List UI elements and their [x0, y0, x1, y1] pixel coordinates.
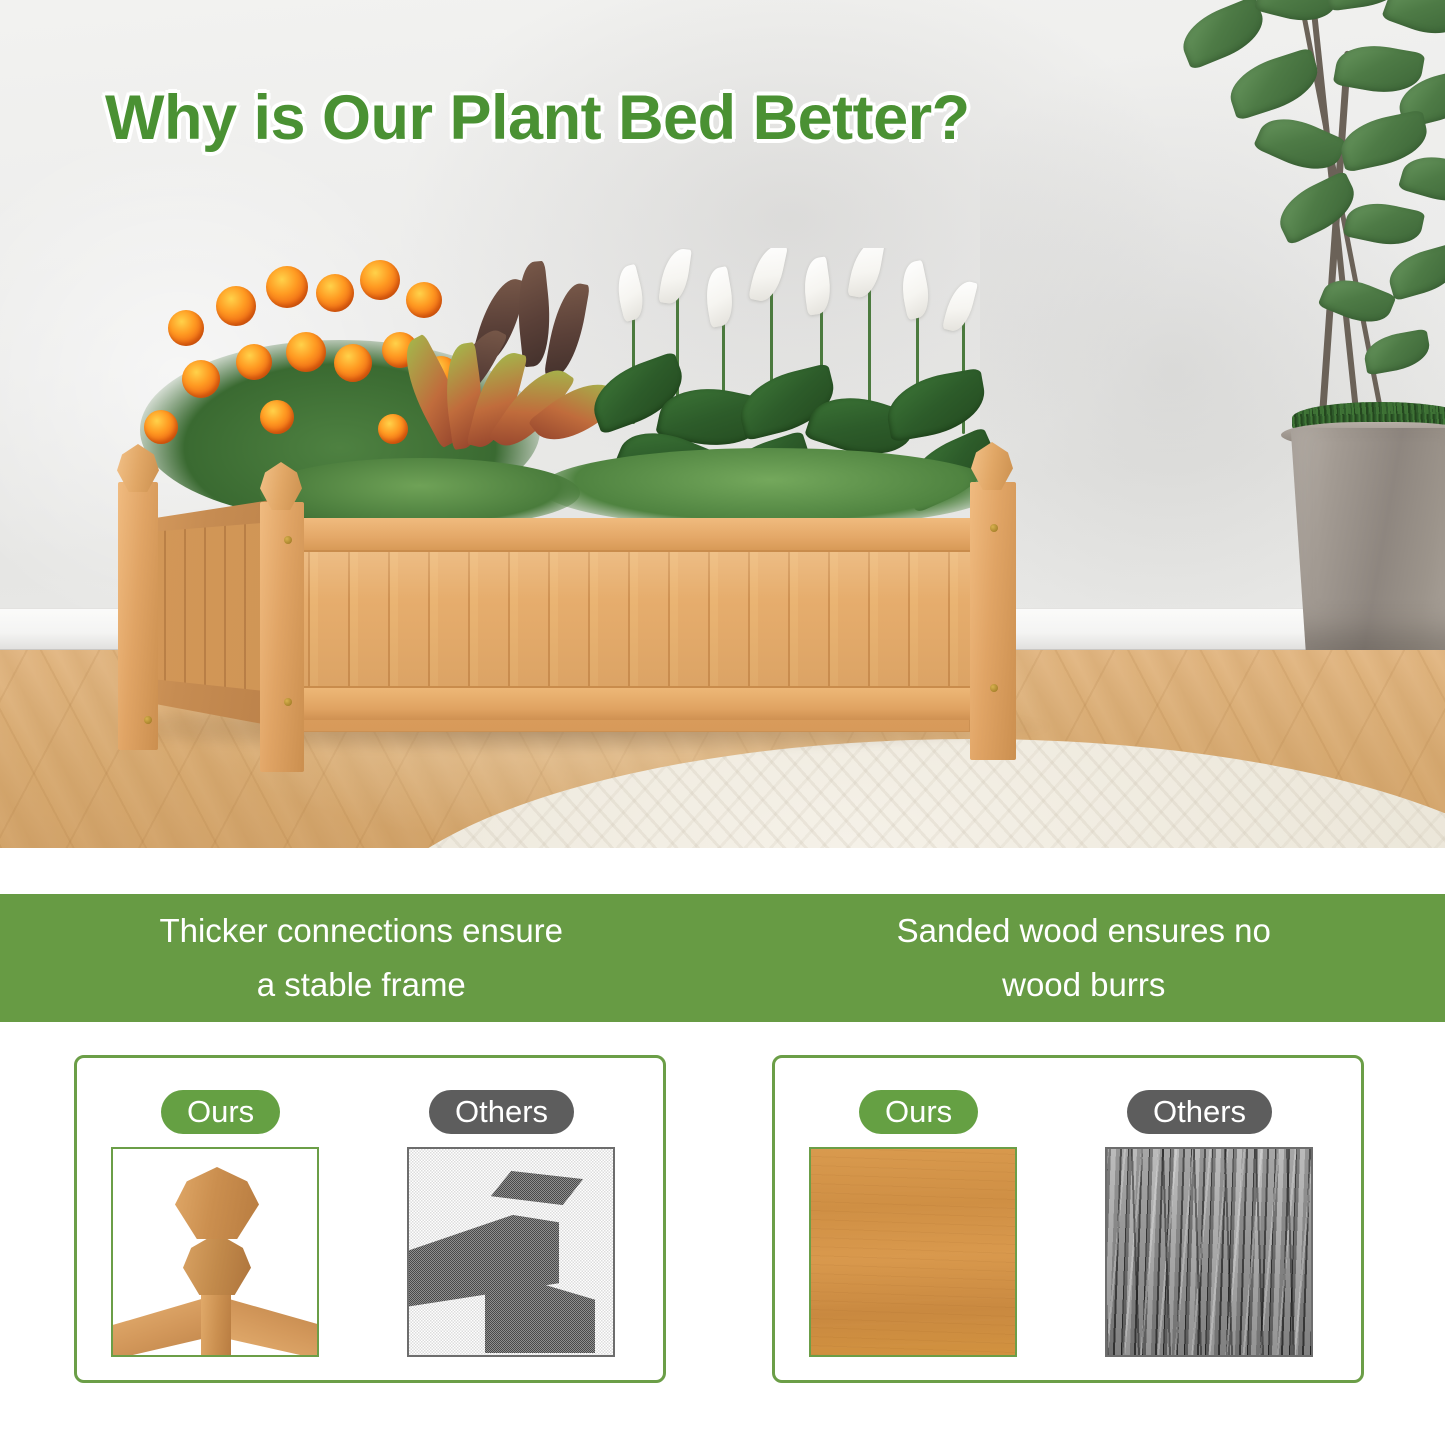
orange-rose	[216, 286, 256, 326]
plant-leaf	[1223, 47, 1325, 121]
ours-badge: Ours	[859, 1090, 978, 1134]
orange-rose	[360, 260, 400, 300]
smooth-wood-texture	[811, 1149, 1015, 1355]
concrete-pot	[1285, 428, 1445, 650]
others-badge: Others	[429, 1090, 574, 1134]
bronze-leaf	[544, 280, 590, 380]
plant-leaf	[1361, 329, 1432, 376]
banner-left-line2: a stable frame	[159, 958, 563, 1012]
white-lily	[896, 260, 933, 320]
planter-front-slats	[278, 550, 970, 692]
white-lily	[942, 278, 978, 334]
planter-corner-post	[118, 482, 158, 750]
comparison-card-thicker-connections: Ours Others	[74, 1055, 666, 1383]
planter-bottom-rail	[278, 686, 970, 720]
plant-leaf	[1343, 197, 1426, 252]
orange-rose	[168, 310, 204, 346]
others-image-rough-bark	[1105, 1147, 1313, 1357]
ours-image-sanded-wood	[809, 1147, 1017, 1357]
plant-leaf	[1398, 148, 1445, 210]
white-lily	[748, 248, 787, 304]
joint-upper-finial	[175, 1167, 259, 1239]
orange-rose	[236, 344, 272, 380]
banner-right-line1: Sanded wood ensures no	[897, 904, 1271, 958]
joint-arm-left	[111, 1295, 215, 1357]
others-image-thin-joint	[407, 1147, 615, 1357]
plant-leaf	[1384, 243, 1445, 301]
orange-rose	[286, 332, 326, 372]
rough-bark-texture	[1107, 1149, 1311, 1355]
brass-screw	[990, 524, 998, 532]
planter-side-slats	[146, 522, 274, 692]
white-lily	[701, 266, 737, 328]
ours-image-wood-joint	[111, 1147, 319, 1357]
others-badge: Others	[1127, 1090, 1272, 1134]
comparison-cards: Ours Others Ours Others	[0, 1055, 1445, 1385]
joint-post-stem	[201, 1285, 231, 1357]
brass-screw	[284, 698, 292, 706]
banner-left-line1: Thicker connections ensure	[159, 904, 563, 958]
white-lily	[612, 264, 648, 322]
plant-leaf	[1254, 0, 1340, 29]
potted-houseplant	[1150, 0, 1445, 690]
orange-rose	[316, 274, 354, 312]
white-lily	[847, 248, 885, 300]
hero-product-photo: Why is Our Plant Bed Better?	[0, 0, 1445, 848]
brass-screw	[990, 684, 998, 692]
page-title: Why is Our Plant Bed Better?	[105, 82, 970, 154]
white-lily	[658, 248, 692, 306]
banner-caption-right: Sanded wood ensures no wood burrs	[723, 894, 1445, 1022]
brass-screw	[144, 716, 152, 724]
orange-rose	[266, 266, 308, 308]
plant-leaf	[1381, 0, 1445, 44]
orange-rose	[406, 282, 442, 318]
brass-screw	[284, 536, 292, 544]
banner-right-line2: wood burrs	[897, 958, 1271, 1012]
wooden-planter-bed	[118, 440, 1018, 758]
joint-lower-finial	[183, 1233, 251, 1295]
planter-corner-post	[260, 502, 304, 772]
ours-badge: Ours	[161, 1090, 280, 1134]
orange-rose	[144, 410, 178, 444]
feature-banner: Thicker connections ensure a stable fram…	[0, 894, 1445, 1022]
planter-top-rail	[278, 518, 970, 552]
banner-caption-left: Thicker connections ensure a stable fram…	[0, 894, 723, 1022]
orange-rose	[260, 400, 294, 434]
white-lily	[800, 256, 834, 315]
comparison-card-sanded-wood: Ours Others	[772, 1055, 1364, 1383]
plant-leaf	[1175, 0, 1272, 70]
orange-rose	[182, 360, 220, 398]
orange-rose	[334, 344, 372, 382]
